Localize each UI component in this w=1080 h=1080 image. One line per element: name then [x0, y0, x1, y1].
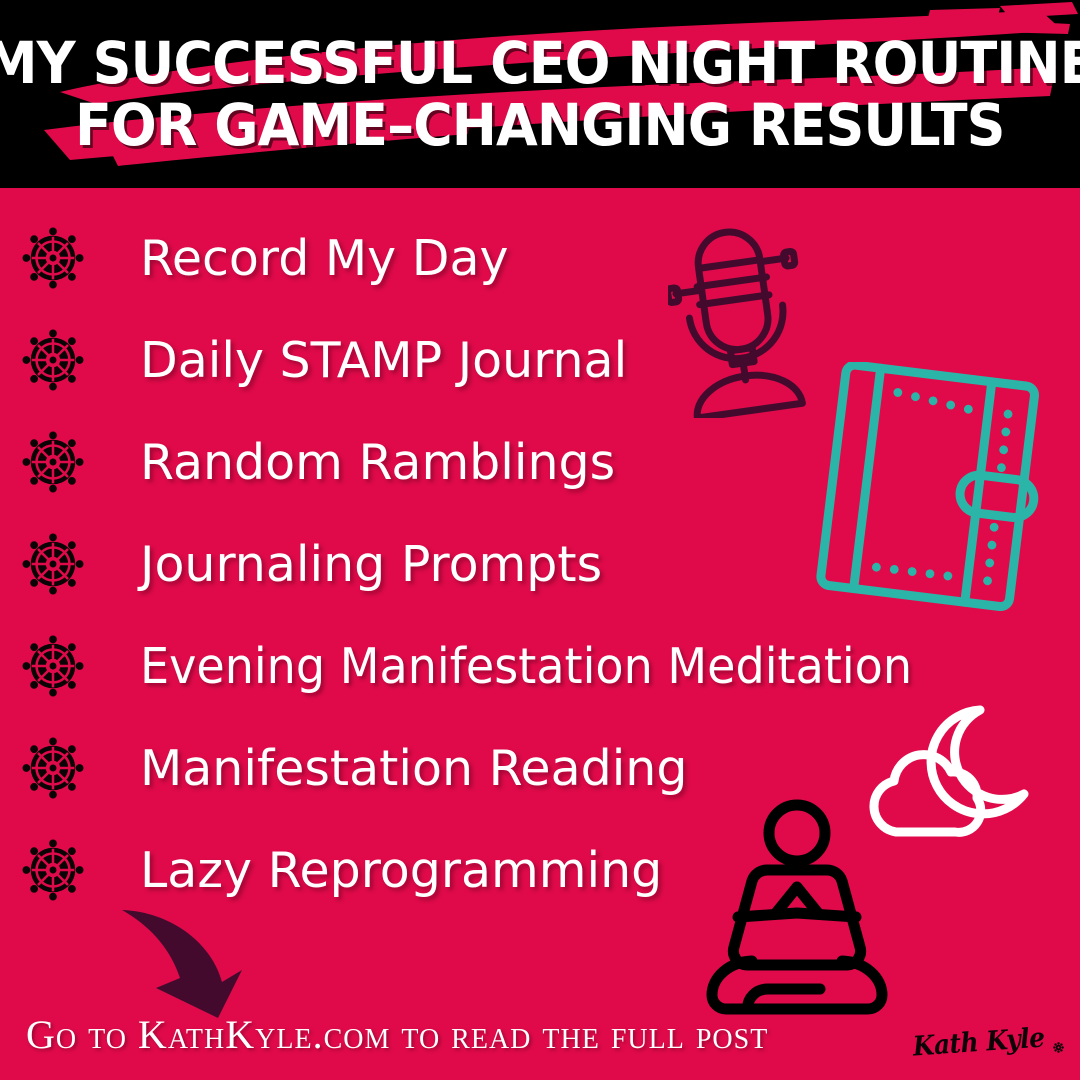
dharma-wheel-icon: [22, 227, 84, 289]
dharma-wheel-icon: [22, 431, 84, 493]
footer-cta-text[interactable]: Go to KathKyle.com to read the full post: [26, 1011, 768, 1058]
flower-icon: [1053, 1042, 1064, 1053]
brand-logo[interactable]: Kath Kyle: [907, 1029, 1064, 1056]
list-item-label: Evening Manifestation Meditation: [140, 642, 912, 691]
curved-down-arrow-icon: [118, 900, 248, 1020]
routine-list: Record My Day Daily STAMP Journal: [0, 188, 1080, 988]
dharma-wheel-icon: [22, 839, 84, 901]
list-item[interactable]: Record My Day: [0, 212, 1080, 304]
list-item[interactable]: Random Ramblings: [0, 416, 1080, 508]
list-item[interactable]: Daily STAMP Journal: [0, 314, 1080, 406]
dharma-wheel-icon: [22, 635, 84, 697]
list-item[interactable]: Evening Manifestation Meditation: [0, 620, 1080, 712]
dharma-wheel-icon: [22, 329, 84, 391]
header-banner: MY SUCCESSFUL CEO NIGHT ROUTINE FOR GAME…: [0, 0, 1080, 188]
list-item-label: Journaling Prompts: [140, 540, 602, 589]
list-item[interactable]: Journaling Prompts: [0, 518, 1080, 610]
title-line-2: FOR GAME–CHANGING RESULTS: [75, 94, 1005, 156]
list-item-label: Lazy Reprogramming: [140, 846, 662, 895]
list-item-label: Manifestation Reading: [140, 744, 687, 793]
brand-logo-text: Kath Kyle: [912, 1024, 1045, 1060]
list-item-label: Daily STAMP Journal: [140, 336, 627, 385]
list-item-label: Record My Day: [140, 234, 508, 283]
dharma-wheel-icon: [22, 533, 84, 595]
list-item-label: Random Ramblings: [140, 438, 615, 487]
title-line-1: MY SUCCESSFUL CEO NIGHT ROUTINE: [0, 32, 1080, 94]
list-item[interactable]: Manifestation Reading: [0, 722, 1080, 814]
page-title: MY SUCCESSFUL CEO NIGHT ROUTINE FOR GAME…: [0, 0, 1080, 188]
dharma-wheel-icon: [22, 737, 84, 799]
